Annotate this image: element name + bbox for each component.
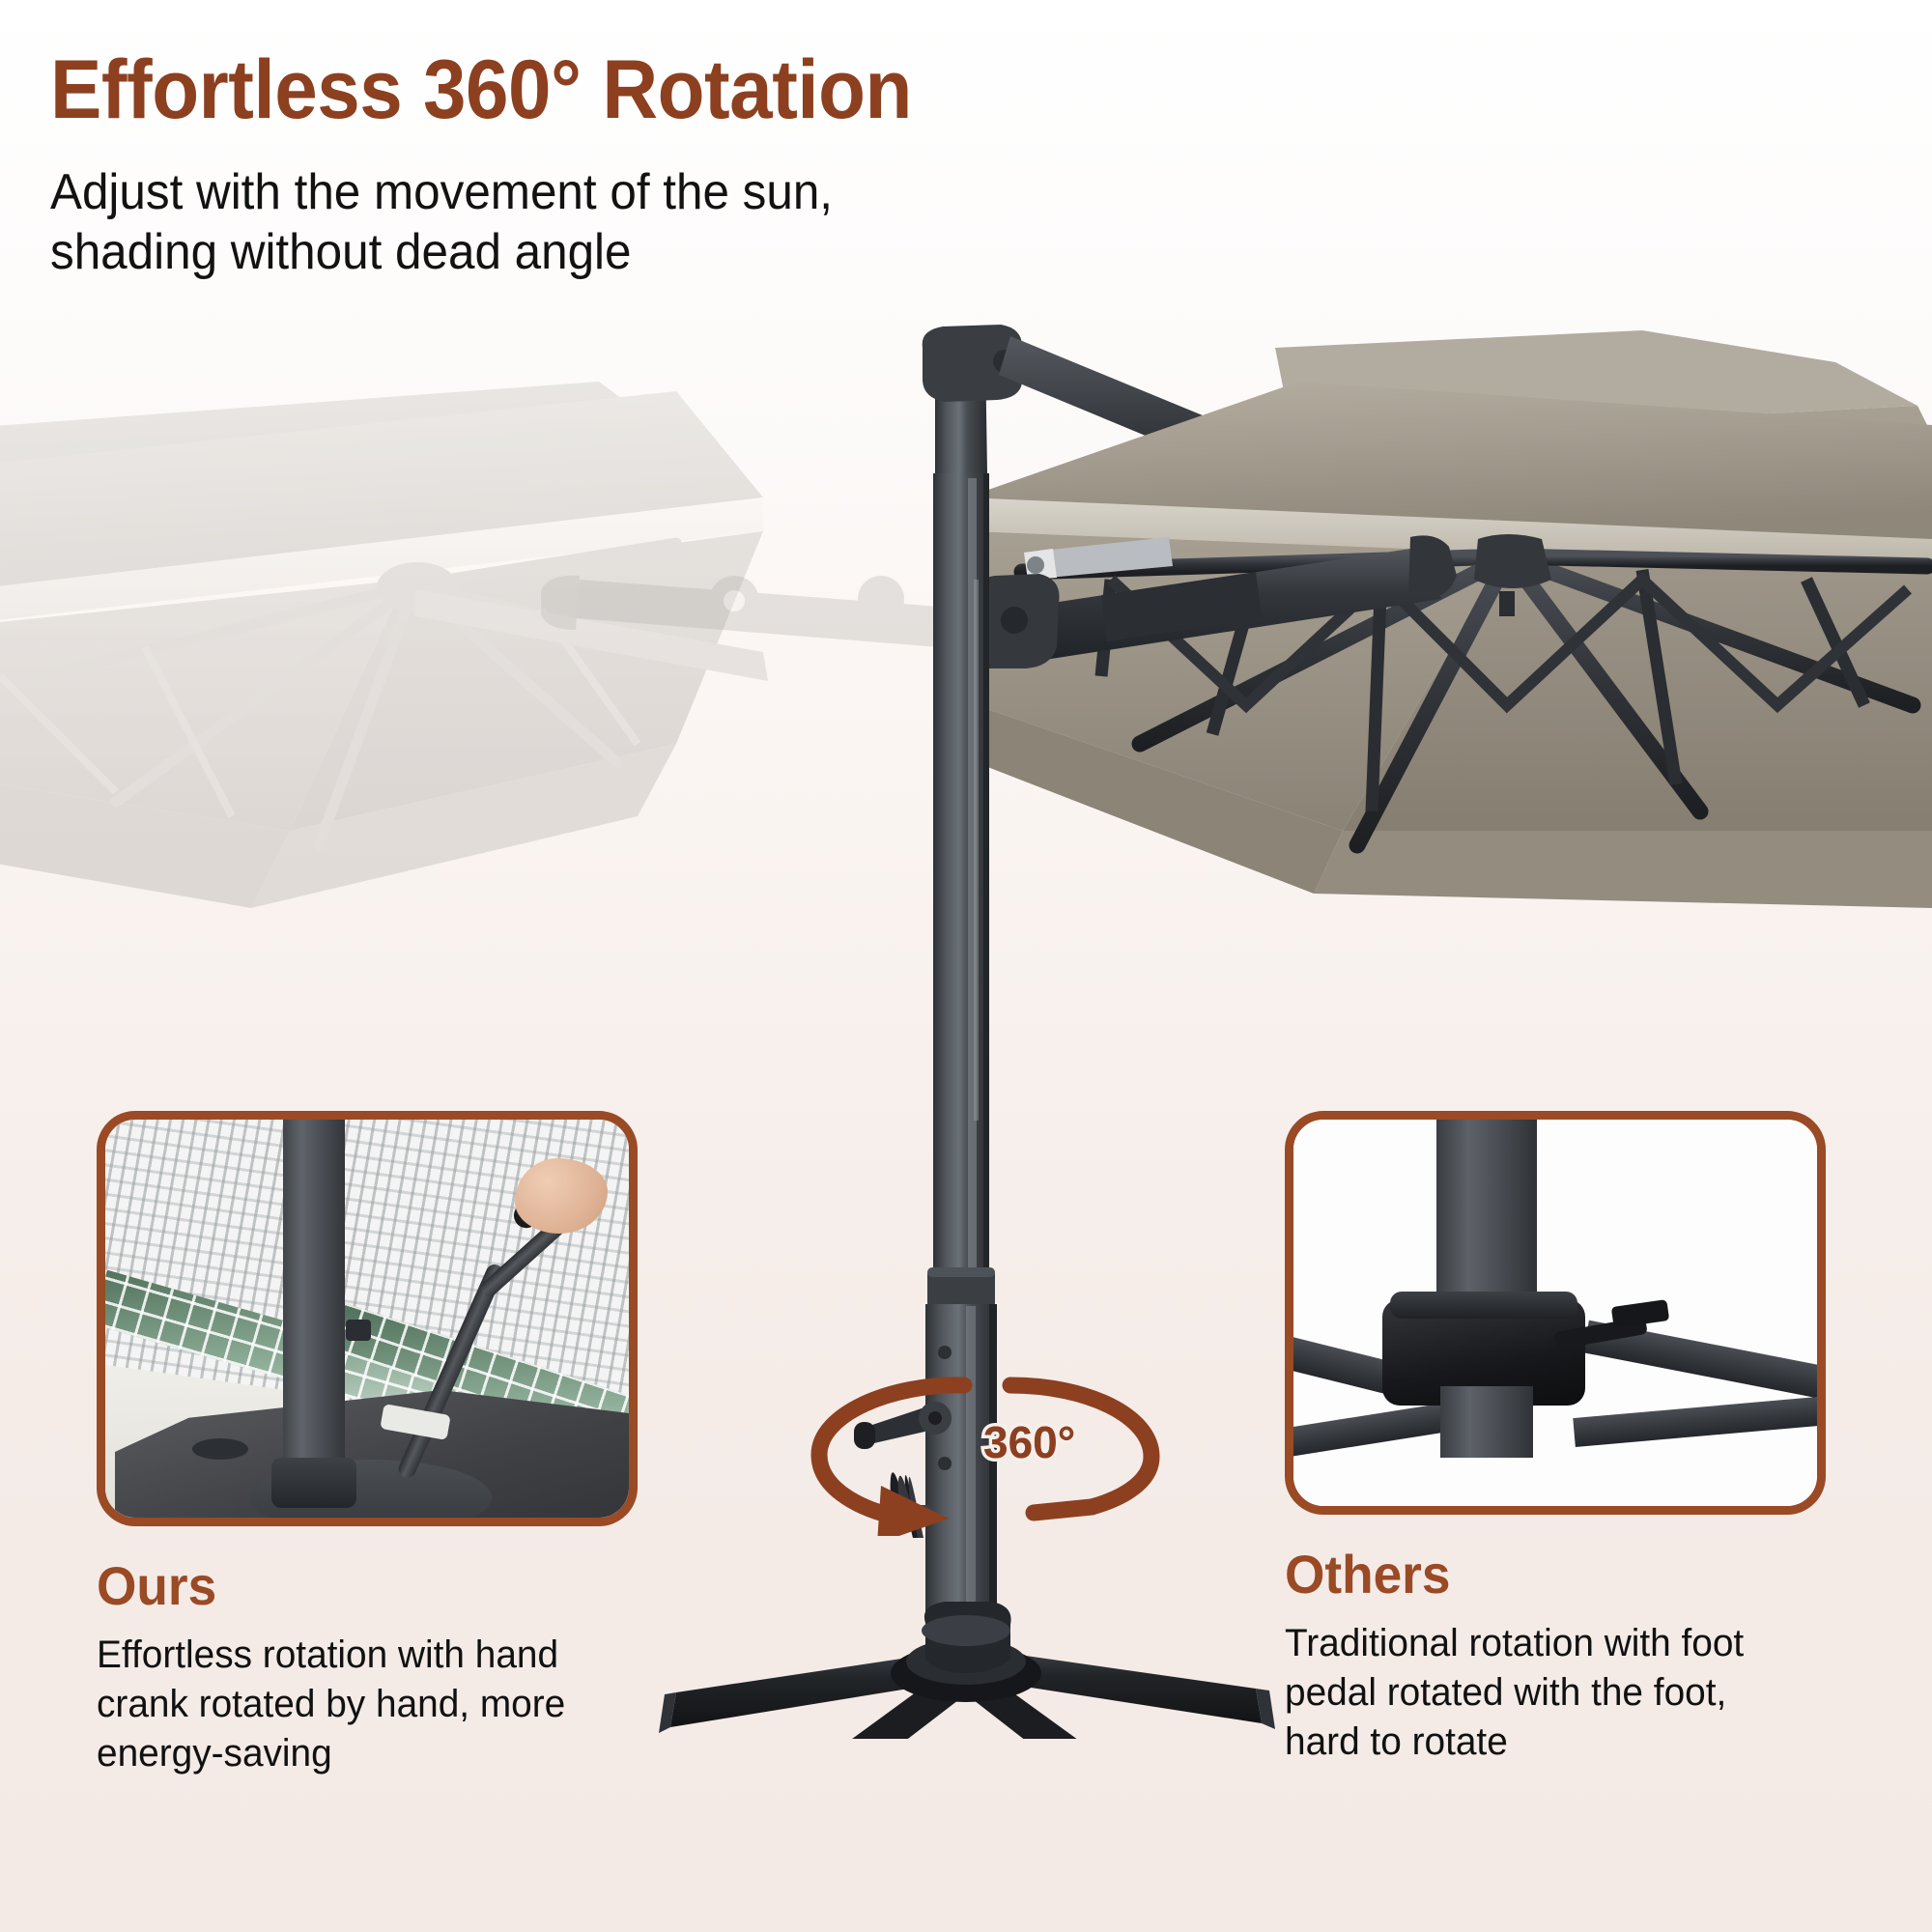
pole-foot-bracket [271, 1458, 356, 1508]
others-description: Traditional rotation with foot pedal rot… [1285, 1619, 1809, 1768]
ours-description: Effortless rotation with hand crank rota… [97, 1631, 621, 1779]
comparison-card-others: Others Traditional rotation with foot pe… [1285, 1111, 1826, 1768]
pole-clip [346, 1320, 371, 1341]
header-block: Effortless 360° Rotation Adjust with the… [50, 48, 1403, 283]
subtitle-line-1: Adjust with the movement of the sun, [50, 162, 1335, 222]
ours-line-2: crank rotated by hand, more [97, 1680, 621, 1729]
others-line-3: hard to rotate [1285, 1718, 1809, 1767]
rotation-360-badge: 360° 360° [802, 1372, 1169, 1536]
subtitle-line-2: shading without dead angle [50, 222, 1335, 282]
umbrella-mast [933, 473, 989, 1275]
base-fill-cap [192, 1438, 248, 1460]
page-subtitle: Adjust with the movement of the sun, sha… [50, 162, 1335, 283]
rotation-label: 360° [983, 1416, 1075, 1468]
others-pole-lower [1440, 1386, 1533, 1458]
ours-line-1: Effortless rotation with hand [97, 1631, 621, 1680]
photo-pole [283, 1111, 345, 1487]
ghost-umbrella-rotated-position [0, 382, 768, 908]
ours-photo-frame [97, 1111, 638, 1526]
others-line-1: Traditional rotation with foot [1285, 1619, 1809, 1668]
infographic-canvas: Effortless 360° Rotation Adjust with the… [0, 0, 1932, 1932]
page-title: Effortless 360° Rotation [50, 48, 1308, 131]
others-photo-frame [1285, 1111, 1826, 1515]
cross-base [659, 1602, 1275, 1739]
others-heading: Others [1285, 1548, 1799, 1602]
ours-line-3: energy-saving [97, 1729, 621, 1778]
ours-heading: Ours [97, 1559, 611, 1613]
hub-collar [1390, 1292, 1577, 1319]
comparison-card-ours: Ours Effortless rotation with hand crank… [97, 1111, 638, 1779]
others-line-2: pedal rotated with the foot, [1285, 1668, 1809, 1718]
